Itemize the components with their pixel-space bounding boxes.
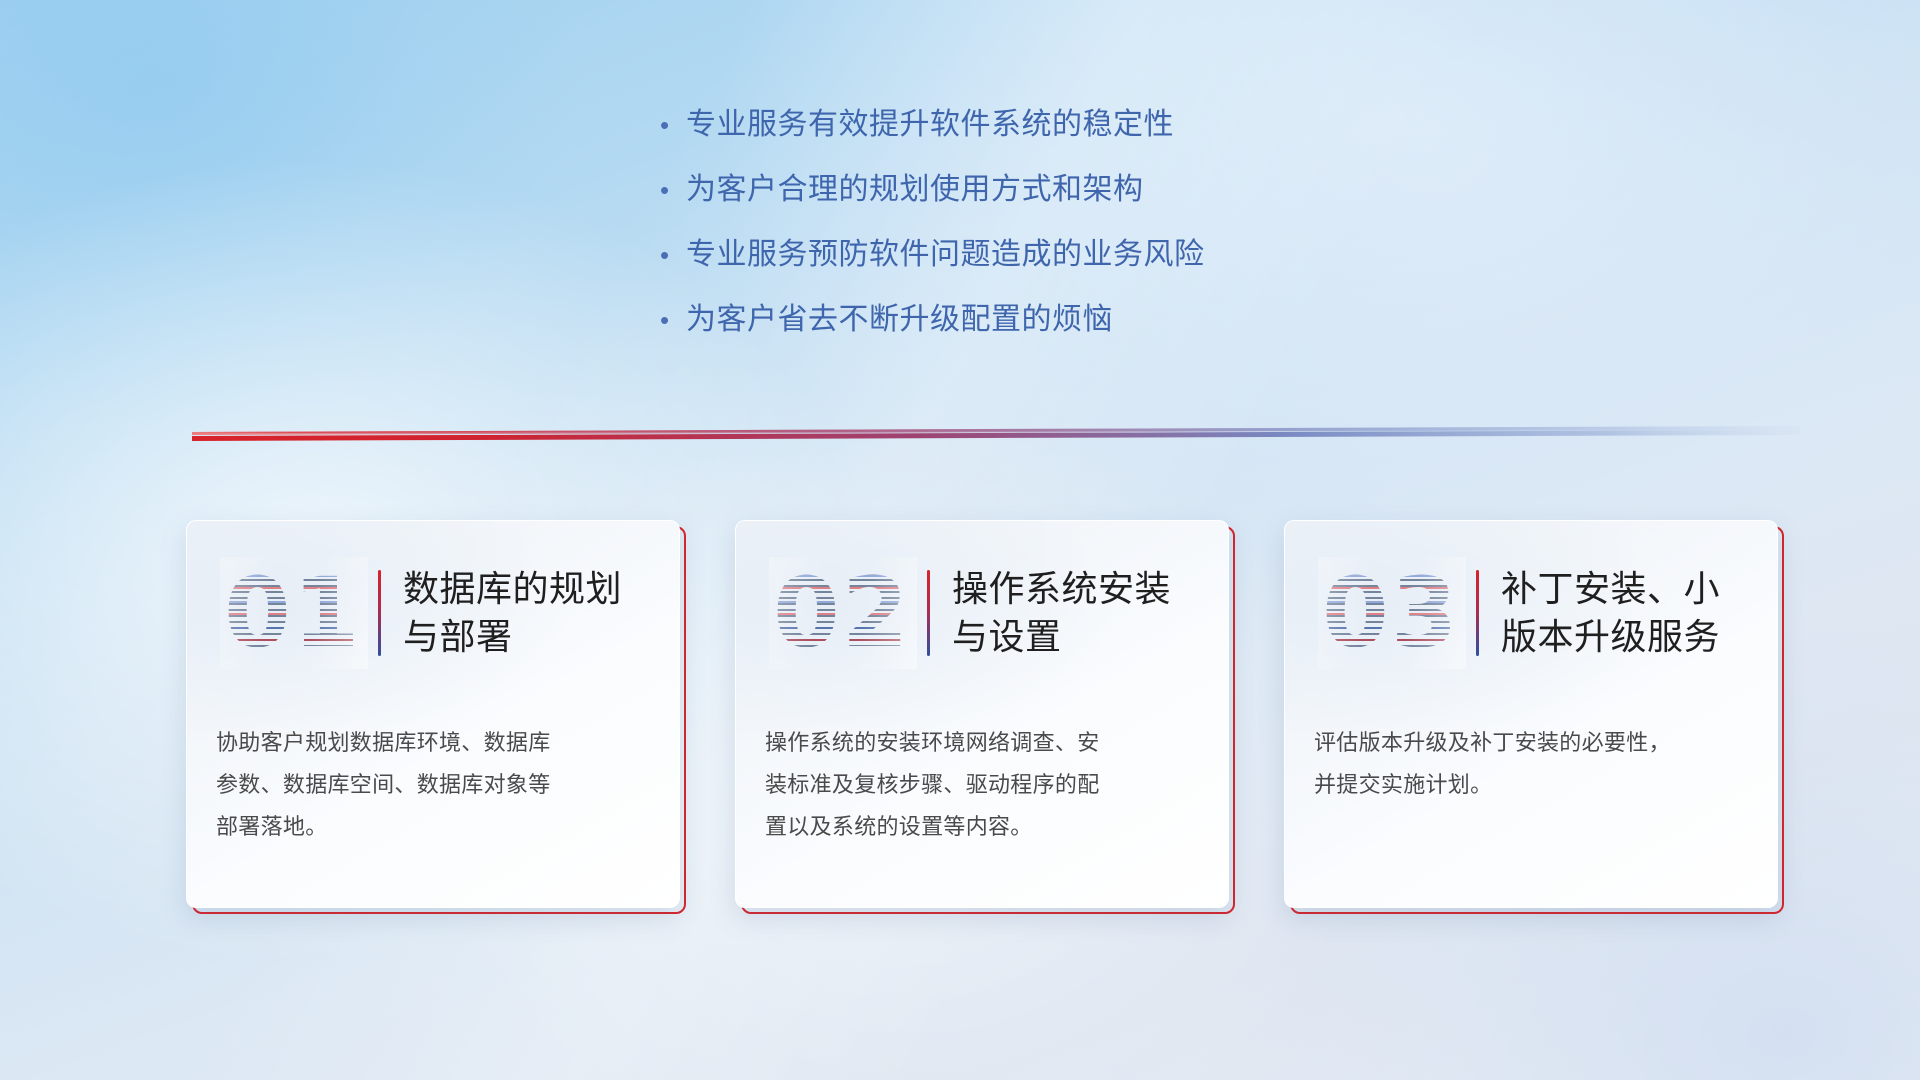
service-card-list: 01 01 01 数据库的规划 与部署 协助客户规划数据库环境、数据库 参数、数…	[186, 520, 1876, 910]
bullet-text: 专业服务有效提升软件系统的稳定性	[686, 104, 1174, 146]
bullet-dot-icon: •	[660, 234, 686, 276]
bullet-text: 为客户合理的规划使用方式和架构	[686, 169, 1144, 211]
card-number-striped: 03 03 03	[1322, 561, 1462, 665]
service-card[interactable]: 01 01 01 数据库的规划 与部署 协助客户规划数据库环境、数据库 参数、数…	[186, 520, 680, 908]
card-body-text: 协助客户规划数据库环境、数据库 参数、数据库空间、数据库对象等 部署落地。	[216, 722, 650, 848]
card-header: 01 01 01 数据库的规划 与部署	[216, 554, 650, 672]
bullet-dot-icon: •	[660, 299, 686, 341]
card-body-text: 评估版本升级及补丁安装的必要性， 并提交实施计划。	[1314, 722, 1748, 806]
card-number-striped: 01 01 01	[224, 561, 364, 665]
service-card[interactable]: 02 02 02 操作系统安装 与设置 操作系统的安装环境网络调查、安 装标准及…	[735, 520, 1229, 908]
card-number-blue-stripes: 01	[224, 561, 364, 665]
card-title: 补丁安装、小 版本升级服务	[1501, 565, 1720, 661]
card-body-text: 操作系统的安装环境网络调查、安 装标准及复核步骤、驱动程序的配 置以及系统的设置…	[765, 722, 1199, 848]
card-header: 03 03 03 补丁安装、小 版本升级服务	[1314, 554, 1748, 672]
bullet-item: • 为客户合理的规划使用方式和架构	[660, 169, 1560, 234]
bullet-item: • 为客户省去不断升级配置的烦恼	[660, 299, 1560, 364]
card-title-rule	[378, 570, 381, 656]
slide-canvas: • 专业服务有效提升软件系统的稳定性 • 为客户合理的规划使用方式和架构 • 专…	[0, 0, 1920, 1080]
card-title-rule	[927, 570, 930, 656]
section-divider	[180, 420, 1800, 446]
card-title: 数据库的规划 与部署	[403, 565, 622, 661]
bullet-dot-icon: •	[660, 169, 686, 211]
card-number-blue-stripes: 03	[1322, 561, 1462, 665]
bullet-dot-icon: •	[660, 104, 686, 146]
card-number-blue-stripes: 02	[773, 561, 913, 665]
bullet-text: 专业服务预防软件问题造成的业务风险	[686, 234, 1205, 276]
bullet-item: • 专业服务预防软件问题造成的业务风险	[660, 234, 1560, 299]
divider-shape-icon	[180, 420, 1800, 446]
benefits-bullet-list: • 专业服务有效提升软件系统的稳定性 • 为客户合理的规划使用方式和架构 • 专…	[660, 104, 1560, 364]
card-header: 02 02 02 操作系统安装 与设置	[765, 554, 1199, 672]
card-title: 操作系统安装 与设置	[952, 565, 1171, 661]
card-number-striped: 02 02 02	[773, 561, 913, 665]
service-card[interactable]: 03 03 03 补丁安装、小 版本升级服务 评估版本升级及补丁安装的必要性， …	[1284, 520, 1778, 908]
bullet-text: 为客户省去不断升级配置的烦恼	[686, 299, 1113, 341]
bullet-item: • 专业服务有效提升软件系统的稳定性	[660, 104, 1560, 169]
card-title-rule	[1476, 570, 1479, 656]
